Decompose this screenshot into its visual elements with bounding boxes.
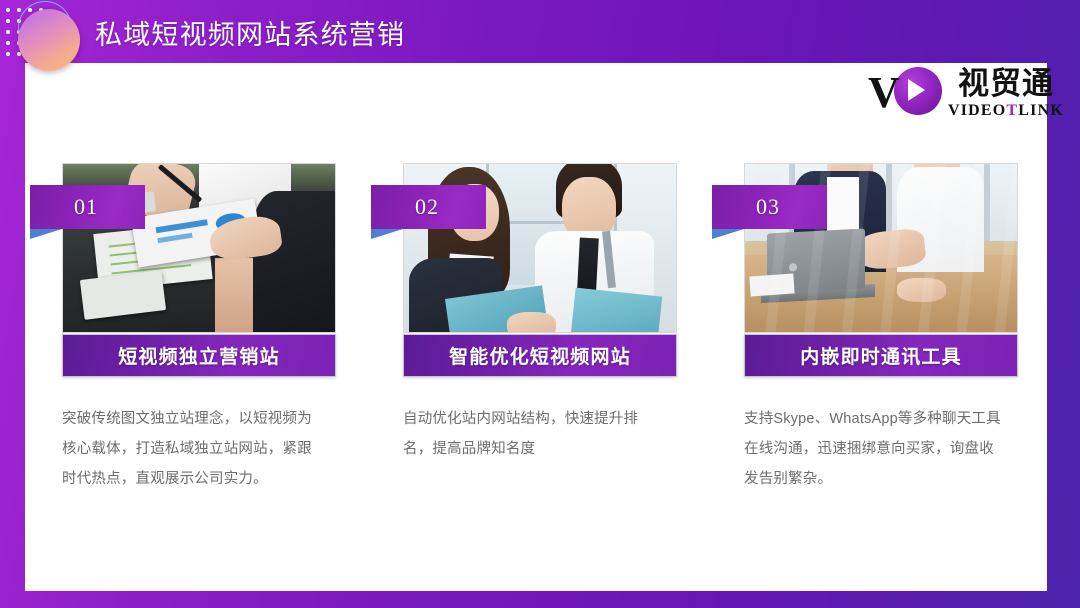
logo-mark-icon: V	[868, 65, 942, 121]
brand-logo: V 视贸通 VIDEOTLINK	[868, 62, 1064, 124]
card-title-bar: 短视频独立营销站	[62, 334, 336, 377]
card-title-text: 内嵌即时通讯工具	[800, 342, 962, 369]
badge-tail-icon	[712, 229, 744, 239]
logo-name-en: VIDEOTLINK	[948, 101, 1064, 120]
badge-tail-icon	[371, 229, 403, 239]
logo-wordmark: 视贸通 VIDEOTLINK	[948, 67, 1064, 120]
play-icon	[908, 79, 925, 101]
badge-tail-icon	[30, 229, 62, 239]
card-body-text: 自动优化站内网站结构，快速提升排名，提高品牌知名度	[403, 404, 661, 464]
card-body-text: 支持Skype、WhatsApp等多种聊天工具在线沟通，迅速捆绑意向买家，询盘收…	[744, 404, 1002, 494]
card-title-bar: 内嵌即时通讯工具	[744, 334, 1018, 377]
card-body-text: 突破传统图文独立站理念，以短视频为核心载体，打造私域独立站网站，紧跟时代热点，直…	[62, 404, 320, 494]
feature-card: 01 短视频独立营销站 突破传统图文独立站理念，以短视频为核心载体，打造私域独立…	[62, 163, 336, 494]
gradient-sphere-icon	[18, 9, 80, 71]
logo-en-accent: T	[1006, 102, 1018, 119]
card-title-text: 智能优化短视频网站	[449, 342, 631, 369]
page-title: 私域短视频网站系统营销	[95, 17, 405, 53]
card-number: 01	[74, 196, 98, 218]
logo-en-pre: VIDEO	[948, 102, 1006, 119]
card-title-bar: 智能优化短视频网站	[403, 334, 677, 377]
logo-name-cn: 视贸通	[958, 67, 1054, 100]
logo-letter-v: V	[868, 71, 898, 115]
card-number-badge: 03	[712, 185, 827, 229]
logo-en-post: LINK	[1018, 102, 1064, 119]
card-number: 02	[415, 196, 439, 218]
card-number: 03	[756, 196, 780, 218]
card-number-badge: 01	[30, 185, 145, 229]
slide-root: 私域短视频网站系统营销 V 视贸通 VIDEOTLINK	[0, 0, 1080, 608]
card-number-badge: 02	[371, 185, 486, 229]
feature-card: 03 内嵌即时通讯工具 支持Skype、WhatsApp等多种聊天工具在线沟通，…	[744, 163, 1018, 494]
card-title-text: 短视频独立营销站	[118, 342, 280, 369]
feature-card-list: 01 短视频独立营销站 突破传统图文独立站理念，以短视频为核心载体，打造私域独立…	[62, 163, 1017, 494]
feature-card: 02 智能优化短视频网站 自动优化站内网站结构，快速提升排名，提高品牌知名度	[403, 163, 677, 494]
